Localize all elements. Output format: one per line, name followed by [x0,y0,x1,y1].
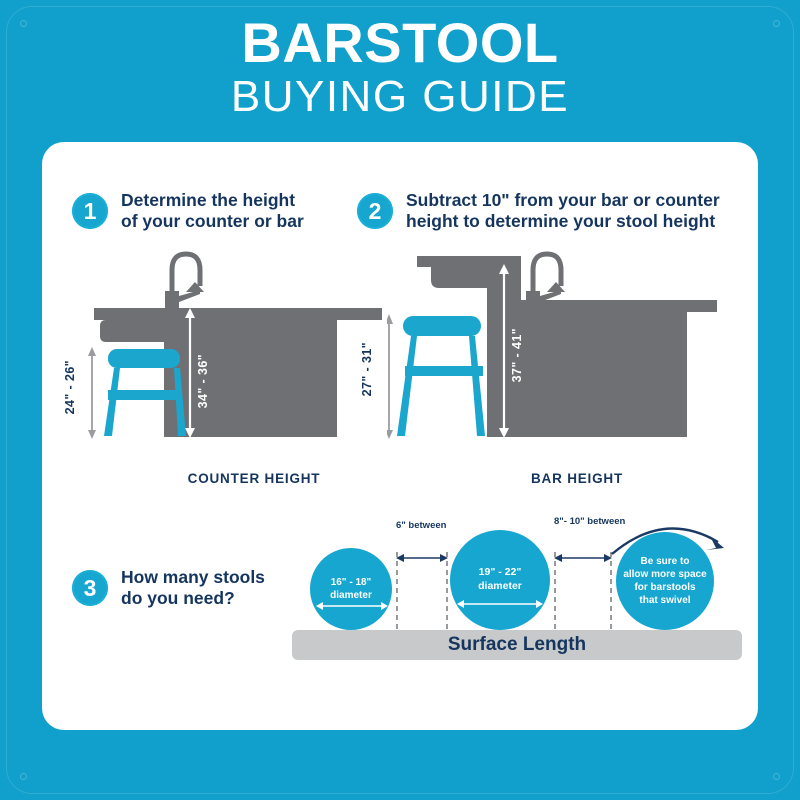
page-title: BARSTOOL [0,14,800,71]
step-1-number: 1 [72,193,108,229]
step-2-label: Subtract 10" from your bar or counter he… [406,190,720,233]
counter-surface-height-label: 34" - 36" [197,354,210,408]
step-2-heading: 2 Subtract 10" from your bar or counter … [357,190,720,233]
gap-label-1: 6" between [396,520,446,531]
infographic-panel: BARSTOOL BUYING GUIDE 1 Determine the he… [0,0,800,800]
bar-surface-height-label: 37" - 41" [511,328,524,382]
counter-height-illustration [82,242,382,457]
gap-1-measure [392,534,452,632]
step-3-label: How many stools do you need? [121,567,265,610]
stool-height-dimension-arrow [88,347,96,439]
counter-overhang [100,320,164,342]
bar-height-illustration [387,242,717,457]
stool-icon [397,316,485,436]
page-subtitle: BUYING GUIDE [0,73,800,121]
stool-circle-1-label: 16" - 18" diameter [330,576,372,602]
step-2-number: 2 [357,193,393,229]
bar-counter-top [487,300,717,312]
stool-circle-3-swivel-note: Be sure to allow more space for barstool… [616,532,714,630]
step-3-heading: 3 How many stools do you need? [72,567,265,610]
counter-height-diagram: 24" - 26" 34" - 36" COUNTER HEIGHT [82,242,382,482]
stool-circle-3-label: Be sure to allow more space for barstool… [623,555,706,608]
step-1-label: Determine the height of your counter or … [121,190,304,233]
header: BARSTOOL BUYING GUIDE [0,14,800,121]
counter-stool-height-label: 24" - 26" [64,360,77,414]
surface-length-bar: Surface Length [292,630,742,660]
stool-circle-1-diameter-arrow [314,600,390,612]
stool-circle-2: 19" - 22" diameter [450,530,550,630]
stool-circle-1: 16" - 18" diameter [310,548,392,630]
rivet-icon-bottom-left [20,773,27,780]
rivet-icon-bottom-right [773,773,780,780]
counter-top [94,308,382,320]
surface-length-label: Surface Length [448,634,586,656]
counter-height-caption: COUNTER HEIGHT [144,471,364,486]
bar-stool-height-label: 27" - 31" [361,342,374,396]
step-1-heading: 1 Determine the height of your counter o… [72,190,304,233]
faucet-base [165,291,179,309]
bar-height-caption: BAR HEIGHT [482,471,672,486]
bar-stool-height-dimension-arrow [387,314,393,439]
content-card: 1 Determine the height of your counter o… [42,142,758,730]
stool-circle-2-label: 19" - 22" diameter [478,566,522,594]
bar-height-diagram: 27" - 31" 37" - 41" BAR HEIGHT [387,242,717,482]
step-3-number: 3 [72,570,108,606]
stool-circle-2-diameter-arrow [455,598,545,610]
